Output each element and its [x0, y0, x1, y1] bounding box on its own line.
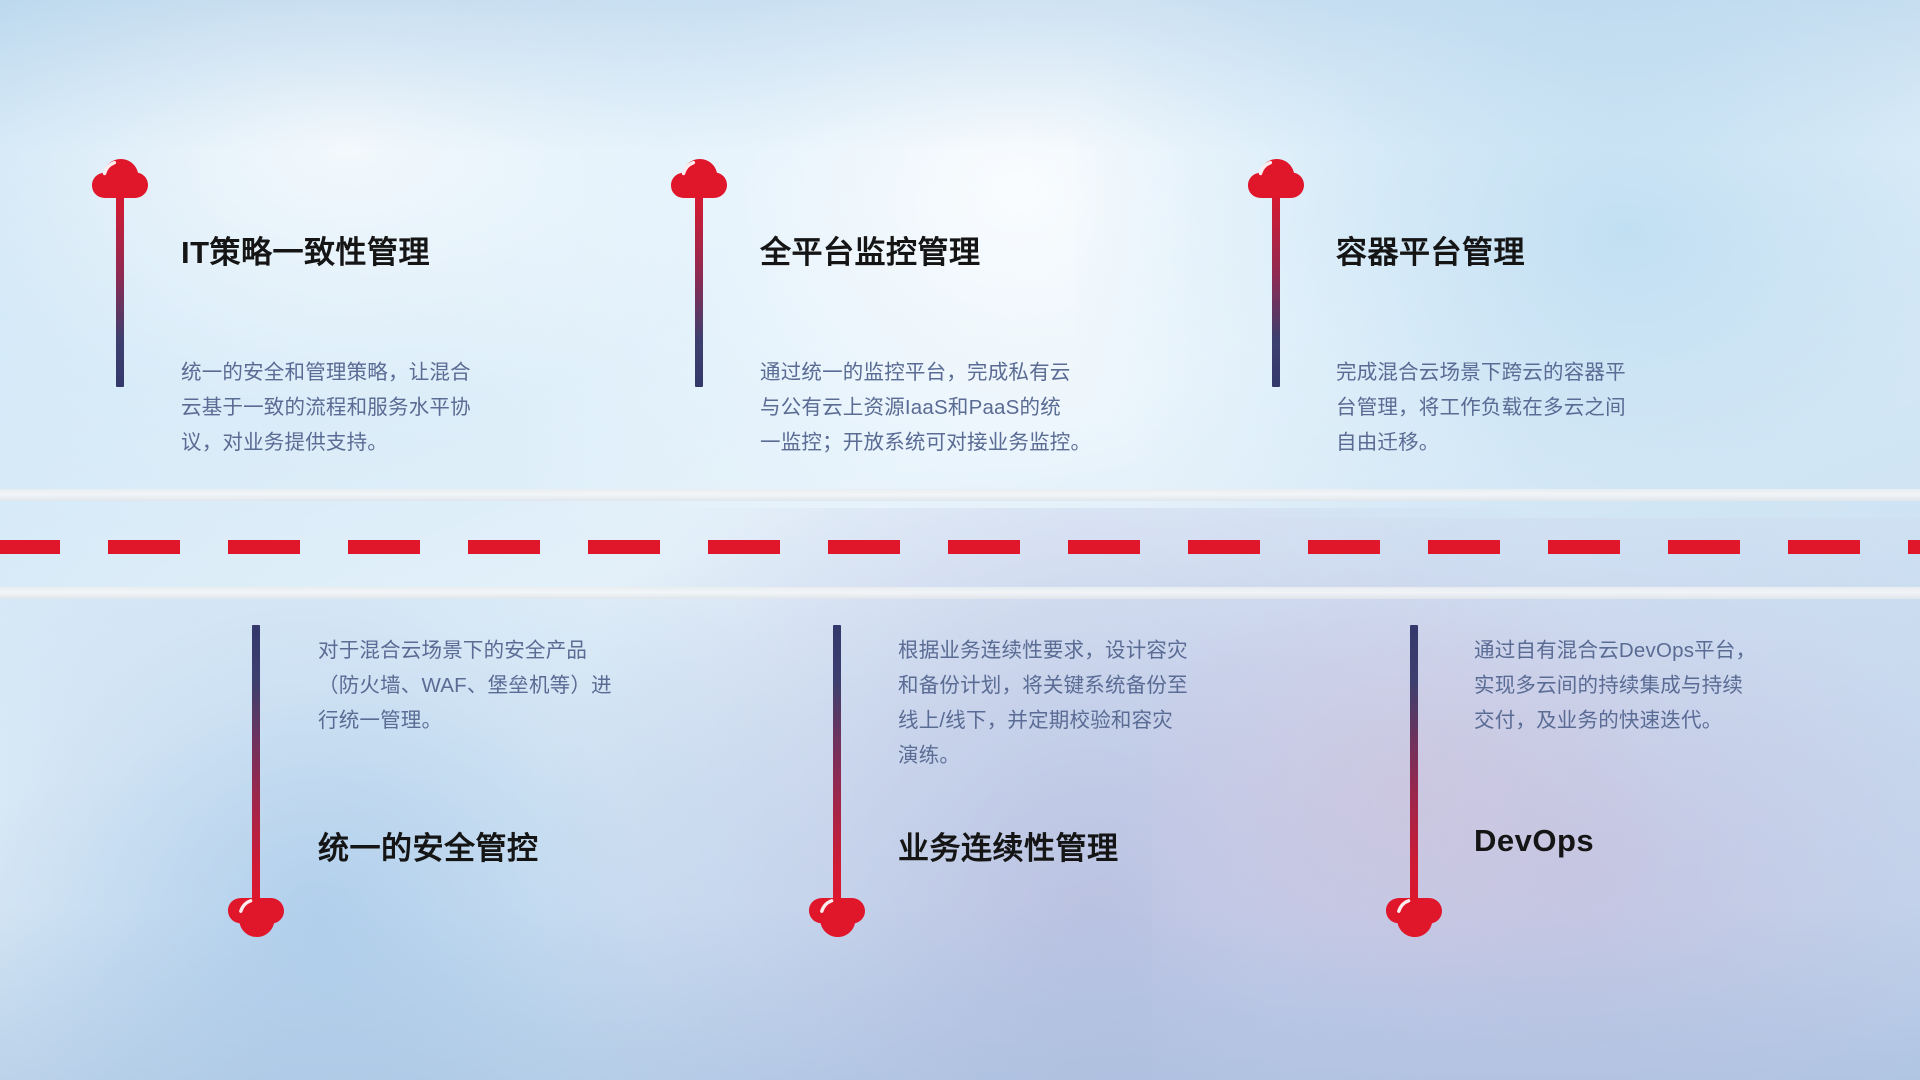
cloud-icon	[92, 159, 148, 199]
pin-bar-3	[1272, 172, 1280, 387]
card-title: IT策略一致性管理	[181, 227, 430, 272]
cloud-icon	[228, 897, 284, 937]
cloud-icon	[1248, 159, 1304, 199]
card-body: 根据业务连续性要求，设计容灾 和备份计划，将关键系统备份至 线上/线下，并定期校…	[898, 633, 1328, 773]
pin-bar-6	[1410, 625, 1418, 910]
road-edge-top	[0, 489, 1920, 501]
pin-bar-5	[833, 625, 841, 910]
cloud-icon	[1386, 897, 1442, 937]
cloud-icon	[671, 159, 727, 199]
card-title: 统一的安全管控	[318, 823, 539, 868]
card-body: 完成混合云场景下跨云的容器平 台管理，将工作负载在多云之间 自由迁移。	[1336, 355, 1766, 460]
pin-bar-2	[695, 172, 703, 387]
road-edge-bottom	[0, 587, 1920, 599]
card-body: 通过统一的监控平台，完成私有云 与公有云上资源IaaS和PaaS的统 一监控；开…	[760, 355, 1210, 460]
pin-bar-4	[252, 625, 260, 910]
road-dash-pattern	[0, 540, 1920, 554]
card-title: 全平台监控管理	[760, 227, 981, 272]
card-title: DevOps	[1474, 823, 1594, 859]
cloud-icon	[809, 897, 865, 937]
card-body: 通过自有混合云DevOps平台， 实现多云间的持续集成与持续 交付，及业务的快速…	[1474, 633, 1884, 738]
card-title: 业务连续性管理	[898, 823, 1119, 868]
pin-bar-1	[116, 172, 124, 387]
road-dashed-center-line	[0, 540, 1920, 554]
infographic-stage: IT策略一致性管理 统一的安全和管理策略，让混合 云基于一致的流程和服务水平协 …	[0, 0, 1920, 1080]
card-body: 对于混合云场景下的安全产品 （防火墙、WAF、堡垒机等）进 行统一管理。	[318, 633, 738, 738]
card-body: 统一的安全和管理策略，让混合 云基于一致的流程和服务水平协 议，对业务提供支持。	[181, 355, 611, 460]
card-title: 容器平台管理	[1336, 227, 1525, 272]
